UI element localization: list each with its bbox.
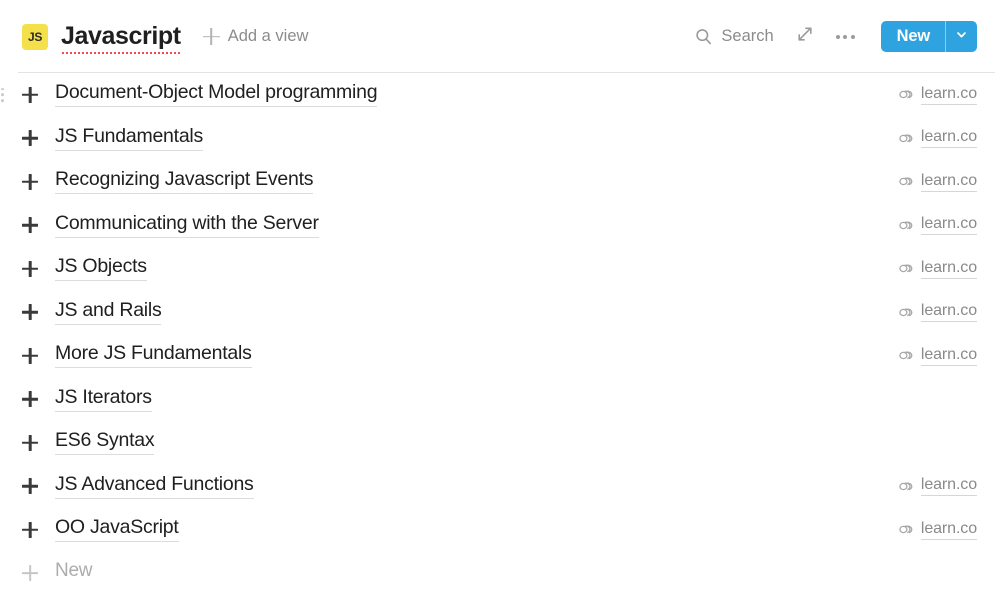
record-title[interactable]: Recognizing Javascript Events bbox=[55, 169, 313, 194]
add-new-record-label: New bbox=[55, 561, 92, 585]
record-title[interactable]: JS Fundamentals bbox=[55, 126, 203, 151]
expand-record-icon[interactable] bbox=[22, 174, 38, 190]
record-link-label: learn.co bbox=[921, 476, 977, 496]
table-row[interactable]: JS and Railslearn.co bbox=[0, 291, 1000, 335]
expand-record-icon[interactable] bbox=[22, 478, 38, 494]
record-title[interactable]: JS Iterators bbox=[55, 387, 152, 412]
record-title[interactable]: ES6 Syntax bbox=[55, 430, 154, 455]
record-title[interactable]: More JS Fundamentals bbox=[55, 343, 252, 368]
table-row[interactable]: JS Objectslearn.co bbox=[0, 247, 1000, 291]
table-row[interactable]: JS Iterators bbox=[0, 378, 1000, 422]
record-link-cell[interactable]: learn.co bbox=[898, 85, 977, 105]
link-icon bbox=[898, 87, 913, 102]
link-icon bbox=[898, 261, 913, 276]
table-row[interactable]: Recognizing Javascript Eventslearn.co bbox=[0, 160, 1000, 204]
record-list: Document-Object Model programminglearn.c… bbox=[0, 73, 1000, 595]
record-link-label: learn.co bbox=[921, 259, 977, 279]
link-icon bbox=[898, 479, 913, 494]
row-drag-handle[interactable] bbox=[1, 88, 4, 102]
table-row[interactable]: OO JavaScriptlearn.co bbox=[0, 508, 1000, 552]
new-button-dropdown[interactable] bbox=[945, 21, 977, 52]
table-row[interactable]: ES6 Syntax bbox=[0, 421, 1000, 465]
link-icon bbox=[898, 348, 913, 363]
record-link-cell[interactable]: learn.co bbox=[898, 259, 977, 279]
record-link-cell[interactable]: learn.co bbox=[898, 346, 977, 366]
table-row[interactable]: JS Fundamentalslearn.co bbox=[0, 117, 1000, 161]
expand-record-icon[interactable] bbox=[22, 435, 38, 451]
plus-icon bbox=[203, 28, 220, 45]
expand-fullscreen-button[interactable] bbox=[796, 25, 814, 48]
search-label: Search bbox=[721, 27, 773, 46]
search-button[interactable]: Search bbox=[695, 27, 773, 46]
record-link-label: learn.co bbox=[921, 302, 977, 322]
page-title[interactable]: Javascript bbox=[61, 22, 181, 51]
record-link-label: learn.co bbox=[921, 128, 977, 148]
add-a-view-label: Add a view bbox=[228, 27, 309, 46]
link-icon bbox=[898, 305, 913, 320]
table-row[interactable]: Document-Object Model programminglearn.c… bbox=[0, 73, 1000, 117]
record-link-label: learn.co bbox=[921, 520, 977, 540]
expand-record-icon[interactable] bbox=[22, 391, 38, 407]
record-title[interactable]: OO JavaScript bbox=[55, 517, 179, 542]
more-options-button[interactable] bbox=[836, 35, 855, 39]
table-row[interactable]: More JS Fundamentalslearn.co bbox=[0, 334, 1000, 378]
record-link-label: learn.co bbox=[921, 172, 977, 192]
record-link-label: learn.co bbox=[921, 215, 977, 235]
record-link-label: learn.co bbox=[921, 85, 977, 105]
record-title[interactable]: Document-Object Model programming bbox=[55, 82, 377, 107]
gallery-app: JS Javascript Add a view Search bbox=[0, 0, 1000, 613]
search-icon bbox=[695, 28, 712, 45]
expand-record-icon[interactable] bbox=[22, 304, 38, 320]
expand-record-icon[interactable] bbox=[22, 87, 38, 103]
record-link-cell[interactable]: learn.co bbox=[898, 172, 977, 192]
link-icon bbox=[898, 522, 913, 537]
plus-icon[interactable] bbox=[22, 565, 38, 581]
record-title[interactable]: JS Advanced Functions bbox=[55, 474, 254, 499]
record-title[interactable]: JS and Rails bbox=[55, 300, 161, 325]
javascript-logo-icon: JS bbox=[22, 24, 48, 50]
record-link-label: learn.co bbox=[921, 346, 977, 366]
add-new-record-row[interactable]: New bbox=[0, 552, 1000, 596]
record-link-cell[interactable]: learn.co bbox=[898, 302, 977, 322]
expand-arrows-icon bbox=[796, 25, 814, 48]
add-a-view-button[interactable]: Add a view bbox=[203, 27, 309, 46]
record-link-cell[interactable]: learn.co bbox=[898, 520, 977, 540]
expand-record-icon[interactable] bbox=[22, 217, 38, 233]
expand-record-icon[interactable] bbox=[22, 130, 38, 146]
expand-record-icon[interactable] bbox=[22, 261, 38, 277]
chevron-down-icon bbox=[955, 28, 968, 46]
header-right-group: Search New bbox=[695, 21, 977, 52]
table-row[interactable]: Communicating with the Serverlearn.co bbox=[0, 204, 1000, 248]
app-header: JS Javascript Add a view Search bbox=[0, 0, 1000, 73]
record-title[interactable]: Communicating with the Server bbox=[55, 213, 319, 238]
link-icon bbox=[898, 174, 913, 189]
record-link-cell[interactable]: learn.co bbox=[898, 476, 977, 496]
table-row[interactable]: JS Advanced Functionslearn.co bbox=[0, 465, 1000, 509]
link-icon bbox=[898, 131, 913, 146]
ellipsis-icon bbox=[836, 35, 855, 39]
record-link-cell[interactable]: learn.co bbox=[898, 215, 977, 235]
header-left-group: JS Javascript Add a view bbox=[22, 22, 308, 51]
expand-record-icon[interactable] bbox=[22, 348, 38, 364]
new-button[interactable]: New bbox=[881, 21, 945, 52]
expand-record-icon[interactable] bbox=[22, 522, 38, 538]
link-icon bbox=[898, 218, 913, 233]
record-link-cell[interactable]: learn.co bbox=[898, 128, 977, 148]
new-record-button-group[interactable]: New bbox=[881, 21, 977, 52]
record-title[interactable]: JS Objects bbox=[55, 256, 147, 281]
